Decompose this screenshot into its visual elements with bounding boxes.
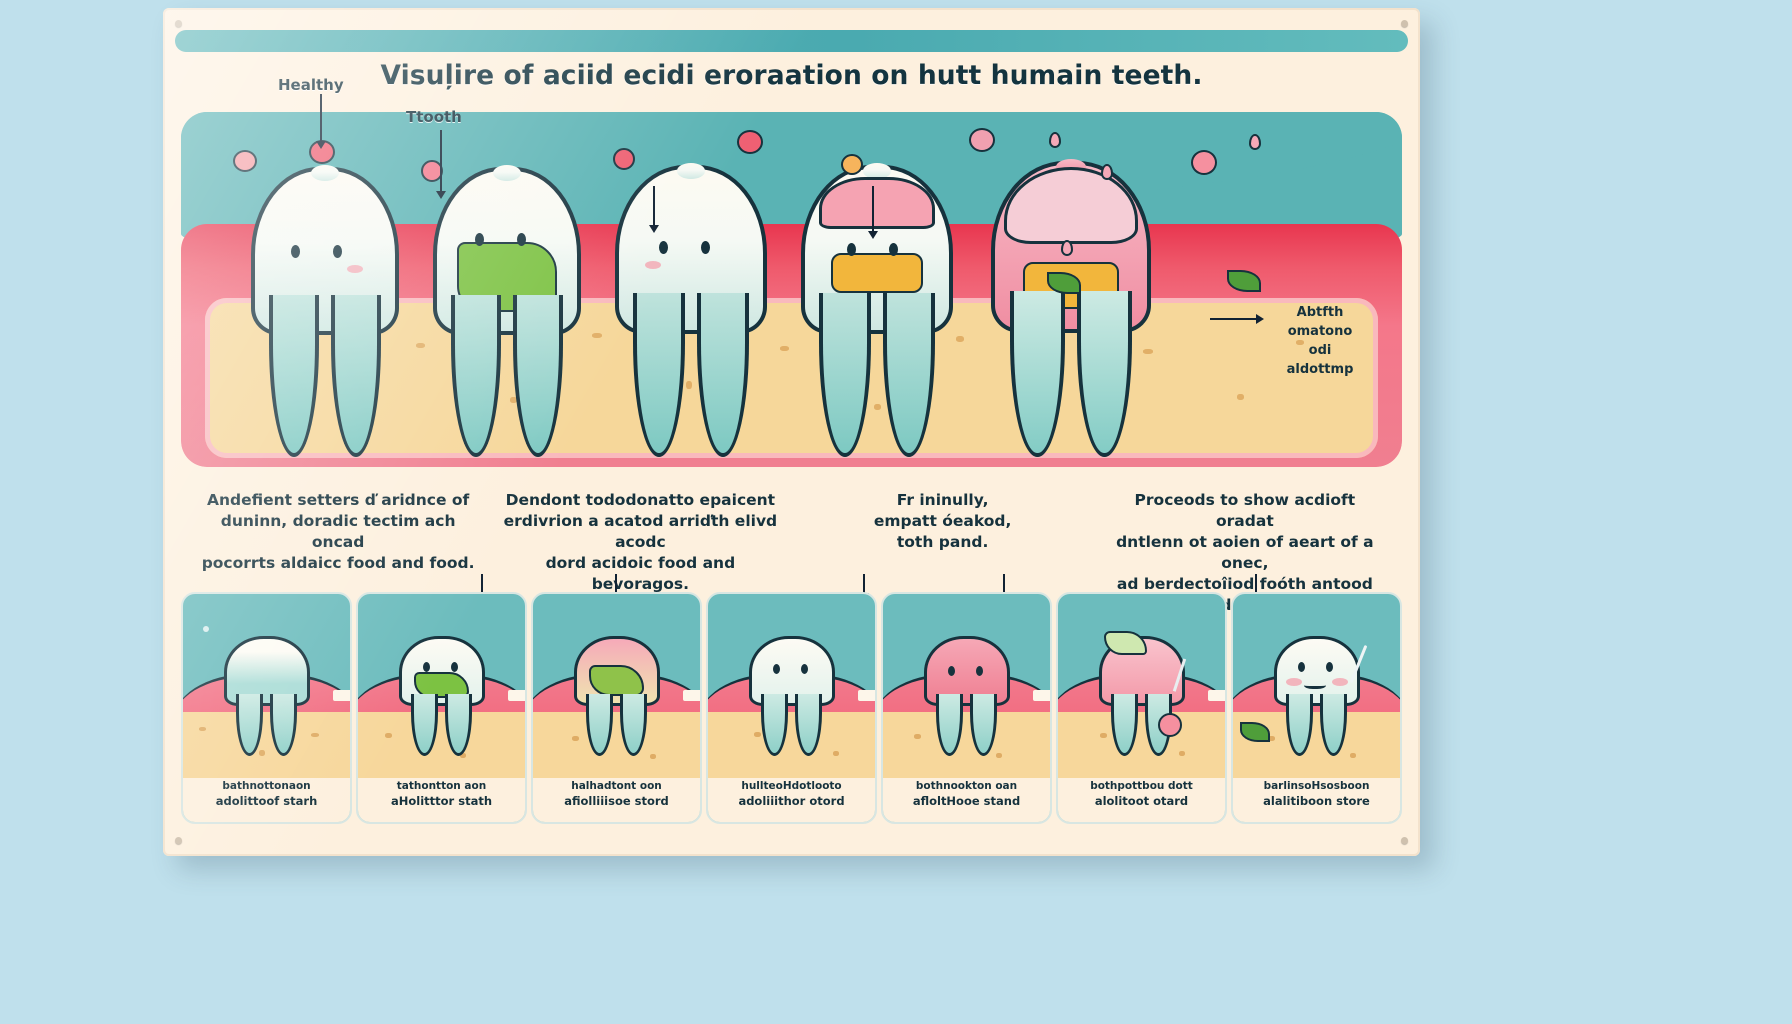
tooth-face-eye	[847, 243, 856, 256]
caption-2-line-3: dord acidoic food and bevoragos.	[503, 553, 777, 595]
bone-speck	[311, 733, 319, 737]
panel-caption-line-2: alalitiboon store	[1233, 794, 1400, 809]
tooth-face-eye	[423, 662, 430, 672]
tooth-face-eye	[1326, 662, 1333, 672]
panel-caption-line-1: bathnottonaon	[183, 780, 350, 794]
tooth-root	[936, 694, 964, 756]
caption-block-2: Dendont tododonatto epaicent erdivrion a…	[489, 490, 791, 582]
bone-speck	[914, 734, 921, 739]
infographic-poster: Visuļire of aciid ecidi eroraation on hu…	[163, 8, 1420, 856]
decay-debris	[1104, 631, 1147, 655]
poster-pin-bottom-left	[175, 837, 182, 844]
callout-leader-healthy	[320, 94, 322, 142]
tooth-root	[970, 694, 998, 756]
arrow-right-icon	[1208, 682, 1227, 708]
tooth-root	[697, 293, 749, 457]
tooth-root	[270, 694, 298, 756]
poster-pin-bottom-right	[1401, 837, 1408, 844]
caption-arrow-down-3	[863, 574, 865, 594]
fruit-icon	[969, 128, 995, 152]
bone-speck	[1237, 394, 1244, 400]
caption-4-line-2: dntlenn ot aoien of aeart of a onec,	[1108, 532, 1382, 574]
strip-panel-2[interactable]: tathontton aon aHolitttor stath	[356, 592, 527, 824]
bone-speck	[199, 727, 206, 731]
caption-3-line-2: empatt óeakod,	[806, 511, 1080, 532]
decay-lesion	[589, 665, 644, 696]
panel-tooth	[224, 636, 310, 756]
panel-caption-line-2: afloltHooe stand	[883, 794, 1050, 809]
arrow-right-icon	[333, 682, 352, 708]
tooth-face-eye	[773, 664, 780, 674]
bone-note-leader	[1210, 318, 1262, 320]
panel-caption-2: tathontton aon aHolitttor stath	[358, 778, 525, 822]
citrus-icon	[1191, 150, 1217, 175]
hero-tooth-dentin-exposed	[801, 165, 953, 457]
page-title: Visuļire of aciid ecidi eroraation on hu…	[163, 60, 1420, 91]
dentin-layer	[831, 253, 922, 294]
hero-tooth-healthy	[251, 167, 399, 457]
strip-panel-3[interactable]: halhadtont oon afiolliiisoe stord	[531, 592, 702, 824]
bone-note-line-3: odi	[1262, 342, 1378, 361]
header-band	[175, 30, 1408, 52]
tooth-root	[331, 295, 381, 457]
tooth-root	[269, 295, 319, 457]
citrus-icon	[1158, 713, 1182, 737]
acid-droplet-icon	[1049, 132, 1061, 148]
panel-tooth	[924, 636, 1010, 756]
caption-row: Andefient setters ď aridnce of duninn, d…	[187, 490, 1396, 582]
bone-speck	[592, 333, 602, 338]
panel-caption-line-2: aHolitttor stath	[358, 794, 525, 809]
callout-leader-4	[872, 186, 874, 232]
tooth-root	[411, 694, 439, 756]
tooth-face-eye	[976, 666, 983, 676]
tooth-root	[513, 295, 563, 457]
panel-tooth	[749, 636, 835, 756]
panel-caption-line-1: bothnookton oan	[883, 780, 1050, 794]
strip-panel-7[interactable]: barlinsoHsosboon alalitiboon store	[1231, 592, 1402, 824]
panel-tooth	[1099, 636, 1185, 756]
tooth-face-eye	[291, 245, 300, 258]
caption-1-line-3: pocorrts aldaicc food and food.	[201, 553, 475, 574]
arrow-right-icon	[1033, 682, 1052, 708]
poster-pin-top-left	[175, 20, 182, 27]
caption-2-line-2: erdivrion a acatod arriďth elivd acodc	[503, 511, 777, 553]
tooth-root	[1320, 694, 1348, 756]
panel-caption-line-2: alolitoot otard	[1058, 794, 1225, 809]
acid-droplet-icon	[1061, 240, 1073, 256]
bone-annotation: Abtfth omatono odi aldottmp	[1262, 304, 1378, 379]
tooth-root	[236, 694, 264, 756]
bone-note-line-4: aldottmp	[1262, 361, 1378, 380]
callout-healthy: Healthy	[278, 76, 344, 94]
caption-arrow-down-5	[1255, 574, 1257, 594]
poster-pin-top-right	[1401, 20, 1408, 27]
caption-arrow-down-2	[615, 574, 617, 594]
panel-tooth	[574, 636, 660, 756]
panel-caption-7: barlinsoHsosboon alalitiboon store	[1233, 778, 1400, 822]
caption-1-line-1: Andefient setters ď aridnce of	[201, 490, 475, 511]
caption-3-line-3: toth pand.	[806, 532, 1080, 553]
panel-caption-1: bathnottonaon adolittoof starh	[183, 778, 350, 822]
arrow-right-icon	[858, 682, 877, 708]
panel-caption-line-1: barlinsoHsosboon	[1233, 780, 1400, 794]
tooth-root	[586, 694, 614, 756]
tooth-face-blush	[1286, 678, 1302, 686]
tooth-face-smile	[1304, 680, 1326, 689]
panel-caption-6: bothpottbou dott alolitoot otard	[1058, 778, 1225, 822]
tooth-face-eye	[451, 662, 458, 672]
tooth-face-blush	[645, 261, 661, 269]
hero-illustration: Abtfth omatono odi aldottmp	[181, 112, 1402, 467]
panel-tooth	[1274, 636, 1360, 756]
tooth-root	[795, 694, 823, 756]
panel-caption-3: halhadtont oon afiolliiisoe stord	[533, 778, 700, 822]
caption-arrow-down-4	[1003, 574, 1005, 594]
caption-3-line-1: Fr ininully,	[806, 490, 1080, 511]
cherry-icon	[613, 148, 635, 170]
screenshot-root: Visuļire of aciid ecidi eroraation on hu…	[0, 0, 1792, 1024]
acid-droplet-icon	[1101, 164, 1113, 180]
panel-caption-line-2: adolittoof starh	[183, 794, 350, 809]
panel-caption-line-2: adoliiithor otord	[708, 794, 875, 809]
progression-strip: bathnottonaon adolittoof starh	[181, 592, 1402, 824]
callout-leader-tooth	[440, 130, 442, 192]
strip-panel-1[interactable]: bathnottonaon adolittoof starh	[181, 592, 352, 824]
tooth-face-blush	[1332, 678, 1348, 686]
panel-tooth	[399, 636, 485, 756]
tooth-face-blush	[347, 265, 363, 273]
tooth-face-eye	[801, 664, 808, 674]
tooth-root	[1111, 694, 1139, 756]
tooth-root	[1077, 291, 1131, 457]
caption-arrow-down-1	[481, 574, 483, 594]
callout-leader-3	[653, 186, 655, 226]
eroded-surface	[819, 177, 935, 230]
hero-tooth-erosion	[615, 165, 767, 457]
panel-caption-line-2: afiolliiisoe stord	[533, 794, 700, 809]
fruit-icon	[233, 150, 257, 172]
tooth-face-eye	[889, 243, 898, 256]
apple-icon	[737, 130, 763, 154]
bone-note-line-2: omatono	[1262, 323, 1378, 342]
panel-caption-line-1: tathontton aon	[358, 780, 525, 794]
panel-caption-line-1: hullteoHdotlooto	[708, 780, 875, 794]
tooth-face-eye	[701, 241, 710, 254]
bone-speck	[385, 733, 392, 738]
caption-1-line-2: duninn, doradic tectim ach oncad	[201, 511, 475, 553]
tooth-root	[819, 293, 871, 457]
arrow-right-icon	[508, 682, 527, 708]
tooth-face-eye	[948, 666, 955, 676]
caption-block-3: Fr ininully, empatt óeakod, toth pand.	[792, 490, 1094, 582]
bone-note-line-1: Abtfth	[1262, 304, 1378, 323]
tooth-face-eye	[659, 241, 668, 254]
caption-block-1: Andefient setters ď aridnce of duninn, d…	[187, 490, 489, 582]
panel-caption-5: bothnookton oan afloltHooe stand	[883, 778, 1050, 822]
tooth-root	[761, 694, 789, 756]
bone-speck	[956, 336, 964, 342]
tooth-root	[883, 293, 935, 457]
bone-speck	[780, 346, 789, 351]
orange-icon	[841, 154, 863, 175]
panel-caption-line-1: halhadtont oon	[533, 780, 700, 794]
tooth-face-eye	[1298, 662, 1305, 672]
strip-panel-6[interactable]: bothpottbou dott alolitoot otard	[1056, 592, 1227, 824]
tooth-root	[633, 293, 685, 457]
strip-panel-4[interactable]: hullteoHdotlooto adoliiithor otord	[706, 592, 877, 824]
strip-panel-5[interactable]: bothnookton oan afloltHooe stand	[881, 592, 1052, 824]
tooth-root	[620, 694, 648, 756]
tooth-face-eye	[475, 233, 484, 246]
caption-4-line-1: Proceods to show acdioft oradat	[1108, 490, 1382, 532]
caption-block-4: Proceods to show acdioft oradat dntlenn …	[1094, 490, 1396, 582]
sparkle-icon	[203, 626, 209, 632]
tooth-root	[1010, 291, 1064, 457]
hero-tooth-severe-decay	[991, 161, 1151, 457]
tooth-face-eye	[333, 245, 342, 258]
panel-caption-line-1: bothpottbou dott	[1058, 780, 1225, 794]
tooth-face-eye	[517, 233, 526, 246]
tooth-root	[445, 694, 473, 756]
caption-2-line-1: Dendont tododonatto epaicent	[503, 490, 777, 511]
panel-caption-4: hullteoHdotlooto adoliiithor otord	[708, 778, 875, 822]
arrow-right-icon	[683, 682, 702, 708]
tooth-root	[1286, 694, 1314, 756]
acid-droplet-icon	[1249, 134, 1261, 150]
